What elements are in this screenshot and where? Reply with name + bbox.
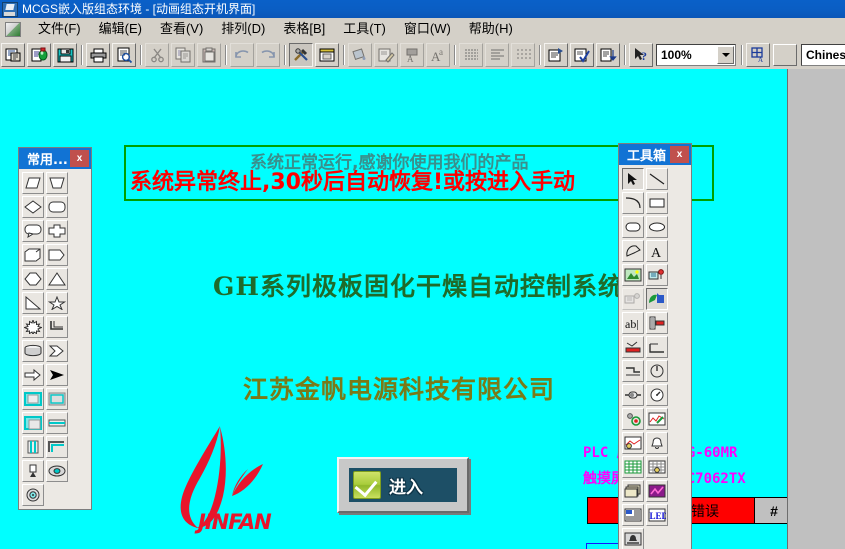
menu-window[interactable]: 窗口(W) <box>395 19 460 39</box>
cut-icon[interactable] <box>145 43 169 67</box>
solid-arrow-shape[interactable] <box>46 364 68 386</box>
hexagon-shape[interactable] <box>22 268 44 290</box>
toolbar-separator <box>281 44 288 66</box>
redo-icon[interactable] <box>256 43 280 67</box>
switch-icon[interactable] <box>622 384 644 406</box>
logo-wordmark: JINFAN <box>198 510 271 534</box>
ellipse-icon[interactable] <box>646 216 668 238</box>
align-lines-icon[interactable] <box>459 43 483 67</box>
standard-button-icon[interactable] <box>646 336 668 358</box>
menu-view[interactable]: 查看(V) <box>151 19 212 39</box>
triangle-shape[interactable] <box>46 268 68 290</box>
gauge-shape[interactable] <box>22 484 44 506</box>
marquee-error-text: 系统异常终止,30秒后自动恢复!或按进入手动 <box>130 164 575 196</box>
text-shadow-icon[interactable]: A <box>400 43 424 67</box>
edit-style-icon[interactable] <box>374 43 398 67</box>
symbol-library-icon[interactable] <box>646 288 668 310</box>
pennant-shape[interactable] <box>46 244 68 266</box>
svg-text:?: ? <box>641 49 647 63</box>
copy-icon[interactable] <box>171 43 195 67</box>
paste-icon[interactable] <box>197 43 221 67</box>
block-arrow-shape[interactable] <box>22 364 44 386</box>
document-icon[interactable] <box>5 22 21 37</box>
svg-text:A: A <box>758 56 763 63</box>
fill-color-icon[interactable] <box>348 43 372 67</box>
print-preview-icon[interactable] <box>112 43 136 67</box>
window-properties-icon[interactable] <box>315 43 339 67</box>
toolbar-blank-box <box>773 44 797 66</box>
diamond-shape[interactable] <box>22 196 44 218</box>
toolbar: A A a <box>0 40 845 70</box>
trapezoid-shape[interactable] <box>46 172 68 194</box>
line-icon[interactable] <box>646 168 668 190</box>
arrow-right-outline-shape[interactable] <box>46 340 68 362</box>
enter-button[interactable]: 进入 <box>337 457 469 513</box>
sort-icon[interactable] <box>596 43 620 67</box>
window-title: MCGS嵌入版组态环境 - [动画组态开机界面] <box>22 3 255 16</box>
cross-shape[interactable] <box>46 220 68 242</box>
cylinder-shape[interactable] <box>22 340 44 362</box>
close-icon[interactable]: x <box>70 150 89 167</box>
select-arrow-icon[interactable] <box>622 168 644 190</box>
menu-table[interactable]: 表格[B] <box>274 19 334 39</box>
svg-text:ab|: ab| <box>625 317 639 330</box>
green-check-icon <box>353 471 381 499</box>
valve-shape[interactable] <box>22 460 44 482</box>
new-window-icon[interactable] <box>1 43 25 67</box>
language-combo[interactable]: Chinese <box>801 44 845 66</box>
toolbar-separator <box>621 44 628 66</box>
open-project-icon[interactable] <box>27 43 51 67</box>
toolbox-palette-grid: A ab| <box>619 165 691 549</box>
zoom-combo[interactable]: 100% <box>656 44 736 66</box>
save-icon[interactable] <box>53 43 77 67</box>
menu-bar: 文件(F) 编辑(E) 查看(V) 排列(D) 表格[B] 工具(T) 窗口(W… <box>0 18 845 41</box>
svg-text:a: a <box>439 47 443 57</box>
arc-icon[interactable] <box>622 192 644 214</box>
title-bar: MCGS嵌入版组态环境 - [动画组态开机界面] <box>0 0 845 18</box>
toolbox-palette-title: 工具箱 <box>619 145 666 164</box>
alarm-bell-icon[interactable] <box>646 432 668 454</box>
help-pointer-icon[interactable]: ? <box>629 43 653 67</box>
report-table-icon[interactable] <box>646 456 668 478</box>
common-palette-titlebar[interactable]: 常用... x <box>19 148 91 169</box>
dial-icon[interactable] <box>646 384 668 406</box>
xy-plot-icon[interactable] <box>646 480 668 502</box>
pump-shape[interactable] <box>46 460 68 482</box>
free-table-icon[interactable] <box>622 456 644 478</box>
company-name: 江苏金帆电源科技有限公司 <box>243 370 555 406</box>
speech-bubble-shape[interactable] <box>22 220 44 242</box>
right-triangle-shape[interactable] <box>22 292 44 314</box>
close-icon[interactable]: x <box>670 146 689 163</box>
indicator-lamp-icon[interactable] <box>622 408 644 430</box>
frame-raised-shape[interactable] <box>22 388 44 410</box>
menu-arrange[interactable]: 排列(D) <box>212 19 274 39</box>
svg-text:A: A <box>651 246 662 258</box>
zoom-value: 100% <box>657 48 716 62</box>
elbow-connector-shape[interactable] <box>46 316 68 338</box>
insert-bitmap-icon[interactable] <box>646 264 668 286</box>
rotate-meter-icon[interactable] <box>646 360 668 382</box>
rounded-rectangle-icon[interactable] <box>622 216 644 238</box>
toolbar-separator <box>536 44 543 66</box>
common-shapes-palette[interactable]: 常用... x <box>18 147 92 510</box>
ime-icon[interactable]: A <box>746 43 770 67</box>
menu-tools[interactable]: 工具(T) <box>334 19 395 39</box>
common-palette-title: 常用... <box>19 149 68 168</box>
tools-icon[interactable] <box>289 43 313 67</box>
rounded-rect-shape[interactable] <box>46 196 68 218</box>
frame-flat-shape[interactable] <box>22 412 44 434</box>
enter-button-label: 进入 <box>389 473 423 498</box>
grid-dots-icon[interactable] <box>511 43 535 67</box>
star-shape[interactable] <box>46 292 68 314</box>
frame-sunken-shape[interactable] <box>46 388 68 410</box>
trend-curve-icon[interactable] <box>646 408 668 430</box>
font-icon[interactable]: A a <box>426 43 450 67</box>
check-script-icon[interactable] <box>570 43 594 67</box>
menu-edit[interactable]: 编辑(E) <box>90 19 151 39</box>
toolbar-separator <box>340 44 347 66</box>
insert-object-icon[interactable] <box>622 288 644 310</box>
toolbox-palette[interactable]: 工具箱 x A ab| <box>618 143 692 549</box>
rectangle-icon[interactable] <box>646 192 668 214</box>
chevron-down-icon[interactable] <box>717 46 734 64</box>
parallelogram-shape[interactable] <box>22 172 44 194</box>
level-meter-icon[interactable] <box>622 336 644 358</box>
undo-icon[interactable] <box>230 43 254 67</box>
mcgs-app-icon <box>2 2 18 17</box>
step-button-icon[interactable] <box>622 360 644 382</box>
alarm-display-icon[interactable] <box>622 528 644 549</box>
led-display-icon[interactable]: LED <box>646 504 668 526</box>
canvas-right-gutter <box>787 69 845 549</box>
align-left-icon[interactable] <box>485 43 509 67</box>
toolbar-separator <box>222 44 229 66</box>
page-title: GH系列极板固化干燥自动控制系统 <box>213 267 624 303</box>
toolbox-palette-titlebar[interactable]: 工具箱 x <box>619 144 691 165</box>
burst-shape[interactable] <box>22 316 44 338</box>
slider-icon[interactable] <box>646 312 668 334</box>
mcgs-application-window: MCGS嵌入版组态环境 - [动画组态开机界面] 文件(F) 编辑(E) 查看(… <box>0 0 845 549</box>
toolbar-separator <box>78 44 85 66</box>
toolbar-separator <box>137 44 144 66</box>
svg-text:LED: LED <box>650 511 667 521</box>
menu-file[interactable]: 文件(F) <box>29 19 90 39</box>
toolbar-separator <box>451 44 458 66</box>
corner-pipe-shape[interactable] <box>46 436 68 458</box>
label-icon[interactable]: ab| <box>622 312 644 334</box>
bar-3d-shape[interactable] <box>46 412 68 434</box>
group-box-icon[interactable] <box>622 480 644 502</box>
design-canvas[interactable]: 系统正常运行,感谢你使用我们的产品 系统异常终止,30秒后自动恢复!或按进入手动… <box>0 69 787 549</box>
vertical-bars-shape[interactable] <box>22 436 44 458</box>
alarm-value: # <box>754 498 787 523</box>
history-curve-icon[interactable] <box>622 432 644 454</box>
cube-shape[interactable] <box>22 244 44 266</box>
print-icon[interactable] <box>86 43 110 67</box>
menu-help[interactable]: 帮助(H) <box>460 19 522 39</box>
text-icon[interactable]: A <box>646 240 668 262</box>
polygon-icon[interactable] <box>622 240 644 262</box>
common-palette-grid <box>19 169 91 509</box>
language-value: Chinese <box>802 48 845 62</box>
svg-text:A: A <box>407 54 414 63</box>
data-list-icon[interactable] <box>622 504 644 526</box>
toolbar-separator <box>738 44 745 66</box>
properties-icon[interactable] <box>544 43 568 67</box>
insert-element-icon[interactable] <box>622 264 644 286</box>
jinfan-logo: JINFAN <box>160 424 290 539</box>
